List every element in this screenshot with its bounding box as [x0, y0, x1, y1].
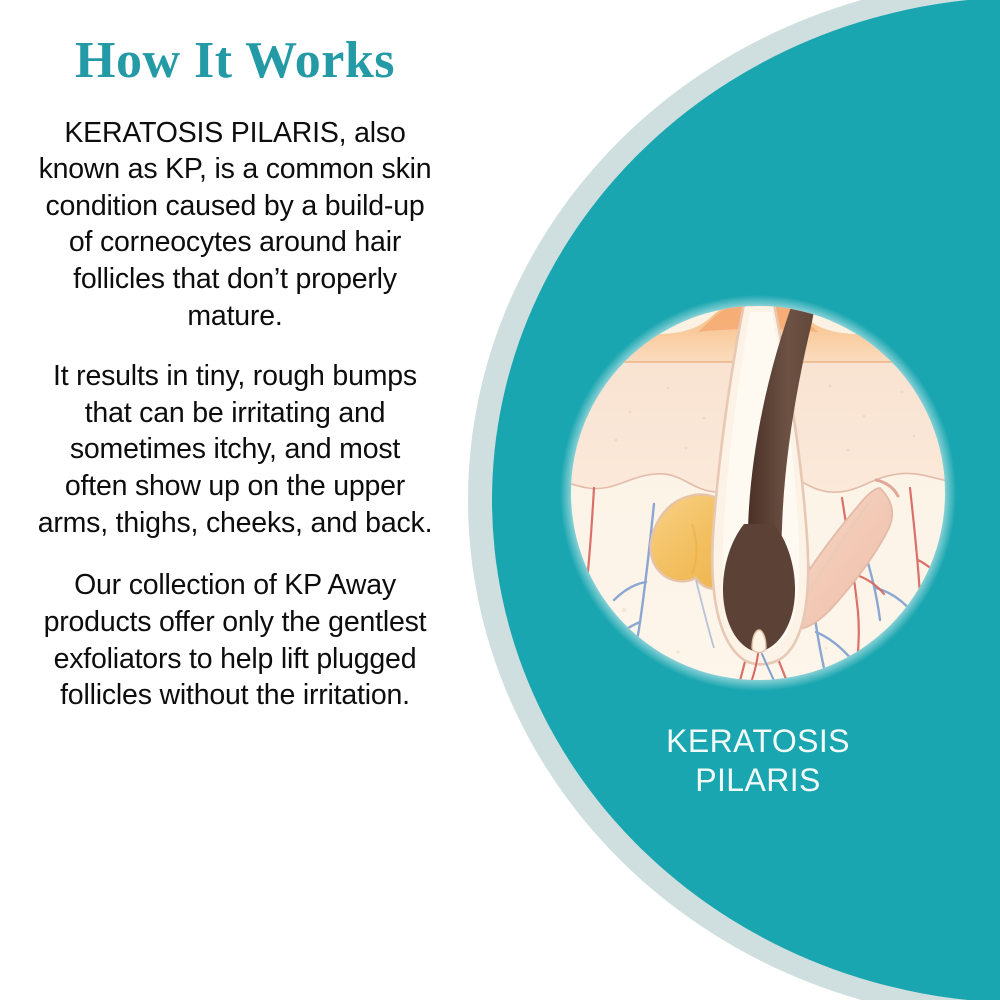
paragraph-definition: KERATOSIS PILARIS, also known as KP, is … — [35, 115, 435, 335]
caption-line-1: KERATOSIS — [558, 722, 958, 761]
paragraph-symptoms: It results in tiny, rough bumps that can… — [35, 358, 435, 541]
illustration-caption: KERATOSIS PILARIS — [558, 722, 958, 800]
caption-line-2: PILARIS — [558, 761, 958, 800]
skin-cross-section-illustration — [558, 292, 958, 694]
text-column: How It Works KERATOSIS PILARIS, also kno… — [0, 0, 470, 1000]
skin-diagram-svg — [558, 292, 958, 694]
paragraph-products: Our collection of KP Away products offer… — [35, 567, 435, 713]
infographic-page: How It Works KERATOSIS PILARIS, also kno… — [0, 0, 1000, 1000]
skin-layers-group — [558, 292, 958, 694]
page-title: How It Works — [75, 34, 395, 89]
